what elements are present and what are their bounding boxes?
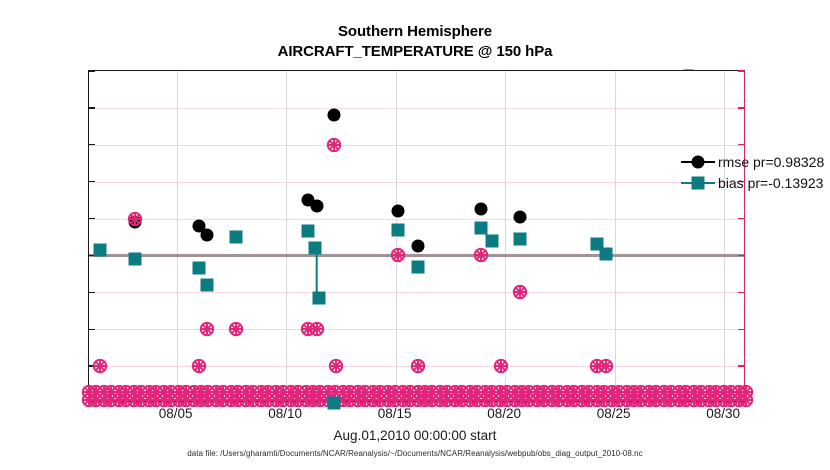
obs-count-marker bbox=[513, 285, 528, 300]
bias-marker bbox=[599, 247, 612, 260]
tick-mark-right bbox=[738, 292, 744, 293]
legend-item-label: rmse pr=0.98328 bbox=[715, 154, 824, 170]
bias-marker bbox=[312, 291, 325, 304]
chart-page: Southern Hemisphere AIRCRAFT_TEMPERATURE… bbox=[0, 0, 830, 470]
gridline-vertical bbox=[615, 71, 616, 401]
x-tick-label: 08/15 bbox=[378, 406, 412, 421]
obs-count-marker bbox=[474, 248, 489, 263]
obs-count-marker bbox=[598, 359, 613, 374]
bias-marker bbox=[308, 242, 321, 255]
chart-title-block: Southern Hemisphere AIRCRAFT_TEMPERATURE… bbox=[0, 22, 830, 62]
rmse-marker bbox=[310, 199, 323, 212]
tick-mark-right bbox=[738, 329, 744, 330]
gridline-vertical bbox=[505, 71, 506, 401]
chart-legend: rmse pr=0.98328bias pr=-0.13923 bbox=[681, 151, 830, 193]
tick-mark-left bbox=[89, 70, 95, 71]
gridline-horizontal bbox=[89, 219, 744, 220]
tick-mark-left bbox=[89, 218, 95, 219]
x-tick-label: 08/30 bbox=[706, 406, 740, 421]
legend-square-icon bbox=[681, 175, 715, 191]
x-tick-label: 08/25 bbox=[597, 406, 631, 421]
legend-item-rmse[interactable]: rmse pr=0.98328 bbox=[681, 151, 830, 172]
obs-count-marker bbox=[200, 322, 215, 337]
chart-title-line-2: AIRCRAFT_TEMPERATURE @ 150 hPa bbox=[0, 42, 830, 62]
obs-count-marker bbox=[410, 359, 425, 374]
bias-marker bbox=[514, 232, 527, 245]
gridline-horizontal bbox=[89, 292, 744, 293]
gridline-horizontal bbox=[89, 329, 744, 330]
bias-marker bbox=[328, 397, 341, 410]
rmse-marker bbox=[328, 109, 341, 122]
x-tick-label: 08/10 bbox=[268, 406, 302, 421]
obs-count-marker bbox=[309, 322, 324, 337]
bias-marker bbox=[391, 223, 404, 236]
gridline-vertical bbox=[177, 71, 178, 401]
x-tick-label: 08/20 bbox=[487, 406, 521, 421]
legend-item-bias[interactable]: bias pr=-0.13923 bbox=[681, 172, 830, 193]
tick-mark-right bbox=[738, 107, 744, 108]
obs-count-marker bbox=[191, 359, 206, 374]
bias-marker bbox=[201, 278, 214, 291]
bias-marker bbox=[128, 253, 141, 266]
tick-mark-right bbox=[738, 218, 744, 219]
tick-mark-left bbox=[89, 107, 95, 108]
bias-marker bbox=[302, 225, 315, 238]
obs-count-marker bbox=[127, 211, 142, 226]
x-tick-label: 08/05 bbox=[159, 406, 193, 421]
tick-mark-right bbox=[738, 144, 744, 145]
rmse-marker bbox=[514, 210, 527, 223]
obs-baseline-marker bbox=[739, 385, 754, 400]
tick-mark-left bbox=[89, 181, 95, 182]
gridline-vertical bbox=[724, 71, 725, 401]
zero-reference-line bbox=[89, 254, 744, 257]
obs-count-marker bbox=[228, 322, 243, 337]
tick-mark-right bbox=[738, 255, 744, 256]
bias-marker bbox=[411, 260, 424, 273]
gridline-vertical bbox=[286, 71, 287, 401]
obs-count-marker bbox=[390, 248, 405, 263]
legend-item-label: bias pr=-0.13923 bbox=[715, 175, 823, 191]
chart-title-line-1: Southern Hemisphere bbox=[0, 22, 830, 42]
data-file-footer: data file: /Users/gharamti/Documents/NCA… bbox=[0, 449, 830, 458]
gridline-horizontal bbox=[89, 182, 744, 183]
rmse-marker bbox=[475, 203, 488, 216]
obs-count-marker bbox=[327, 137, 342, 152]
bias-marker bbox=[229, 231, 242, 244]
rmse-marker bbox=[391, 205, 404, 218]
x-axis-label: Aug.01,2010 00:00:00 start bbox=[0, 428, 830, 443]
bias-marker bbox=[192, 262, 205, 275]
bias-marker bbox=[485, 234, 498, 247]
gridline-horizontal bbox=[89, 145, 744, 146]
rmse-marker bbox=[201, 229, 214, 242]
plot-area: 594837261504-13-22-31-40 rmse pr=0.98328… bbox=[88, 70, 745, 402]
gridline-horizontal bbox=[89, 108, 744, 109]
obs-count-marker bbox=[92, 359, 107, 374]
tick-mark-right bbox=[738, 70, 744, 71]
obs-count-marker bbox=[329, 359, 344, 374]
obs-count-marker bbox=[493, 359, 508, 374]
rmse-marker bbox=[411, 240, 424, 253]
tick-mark-left bbox=[89, 329, 95, 330]
tick-mark-right bbox=[738, 365, 744, 366]
tick-mark-left bbox=[89, 292, 95, 293]
tick-mark-left bbox=[89, 144, 95, 145]
bias-marker bbox=[475, 221, 488, 234]
bias-marker bbox=[93, 243, 106, 256]
legend-circle-icon bbox=[681, 154, 715, 170]
